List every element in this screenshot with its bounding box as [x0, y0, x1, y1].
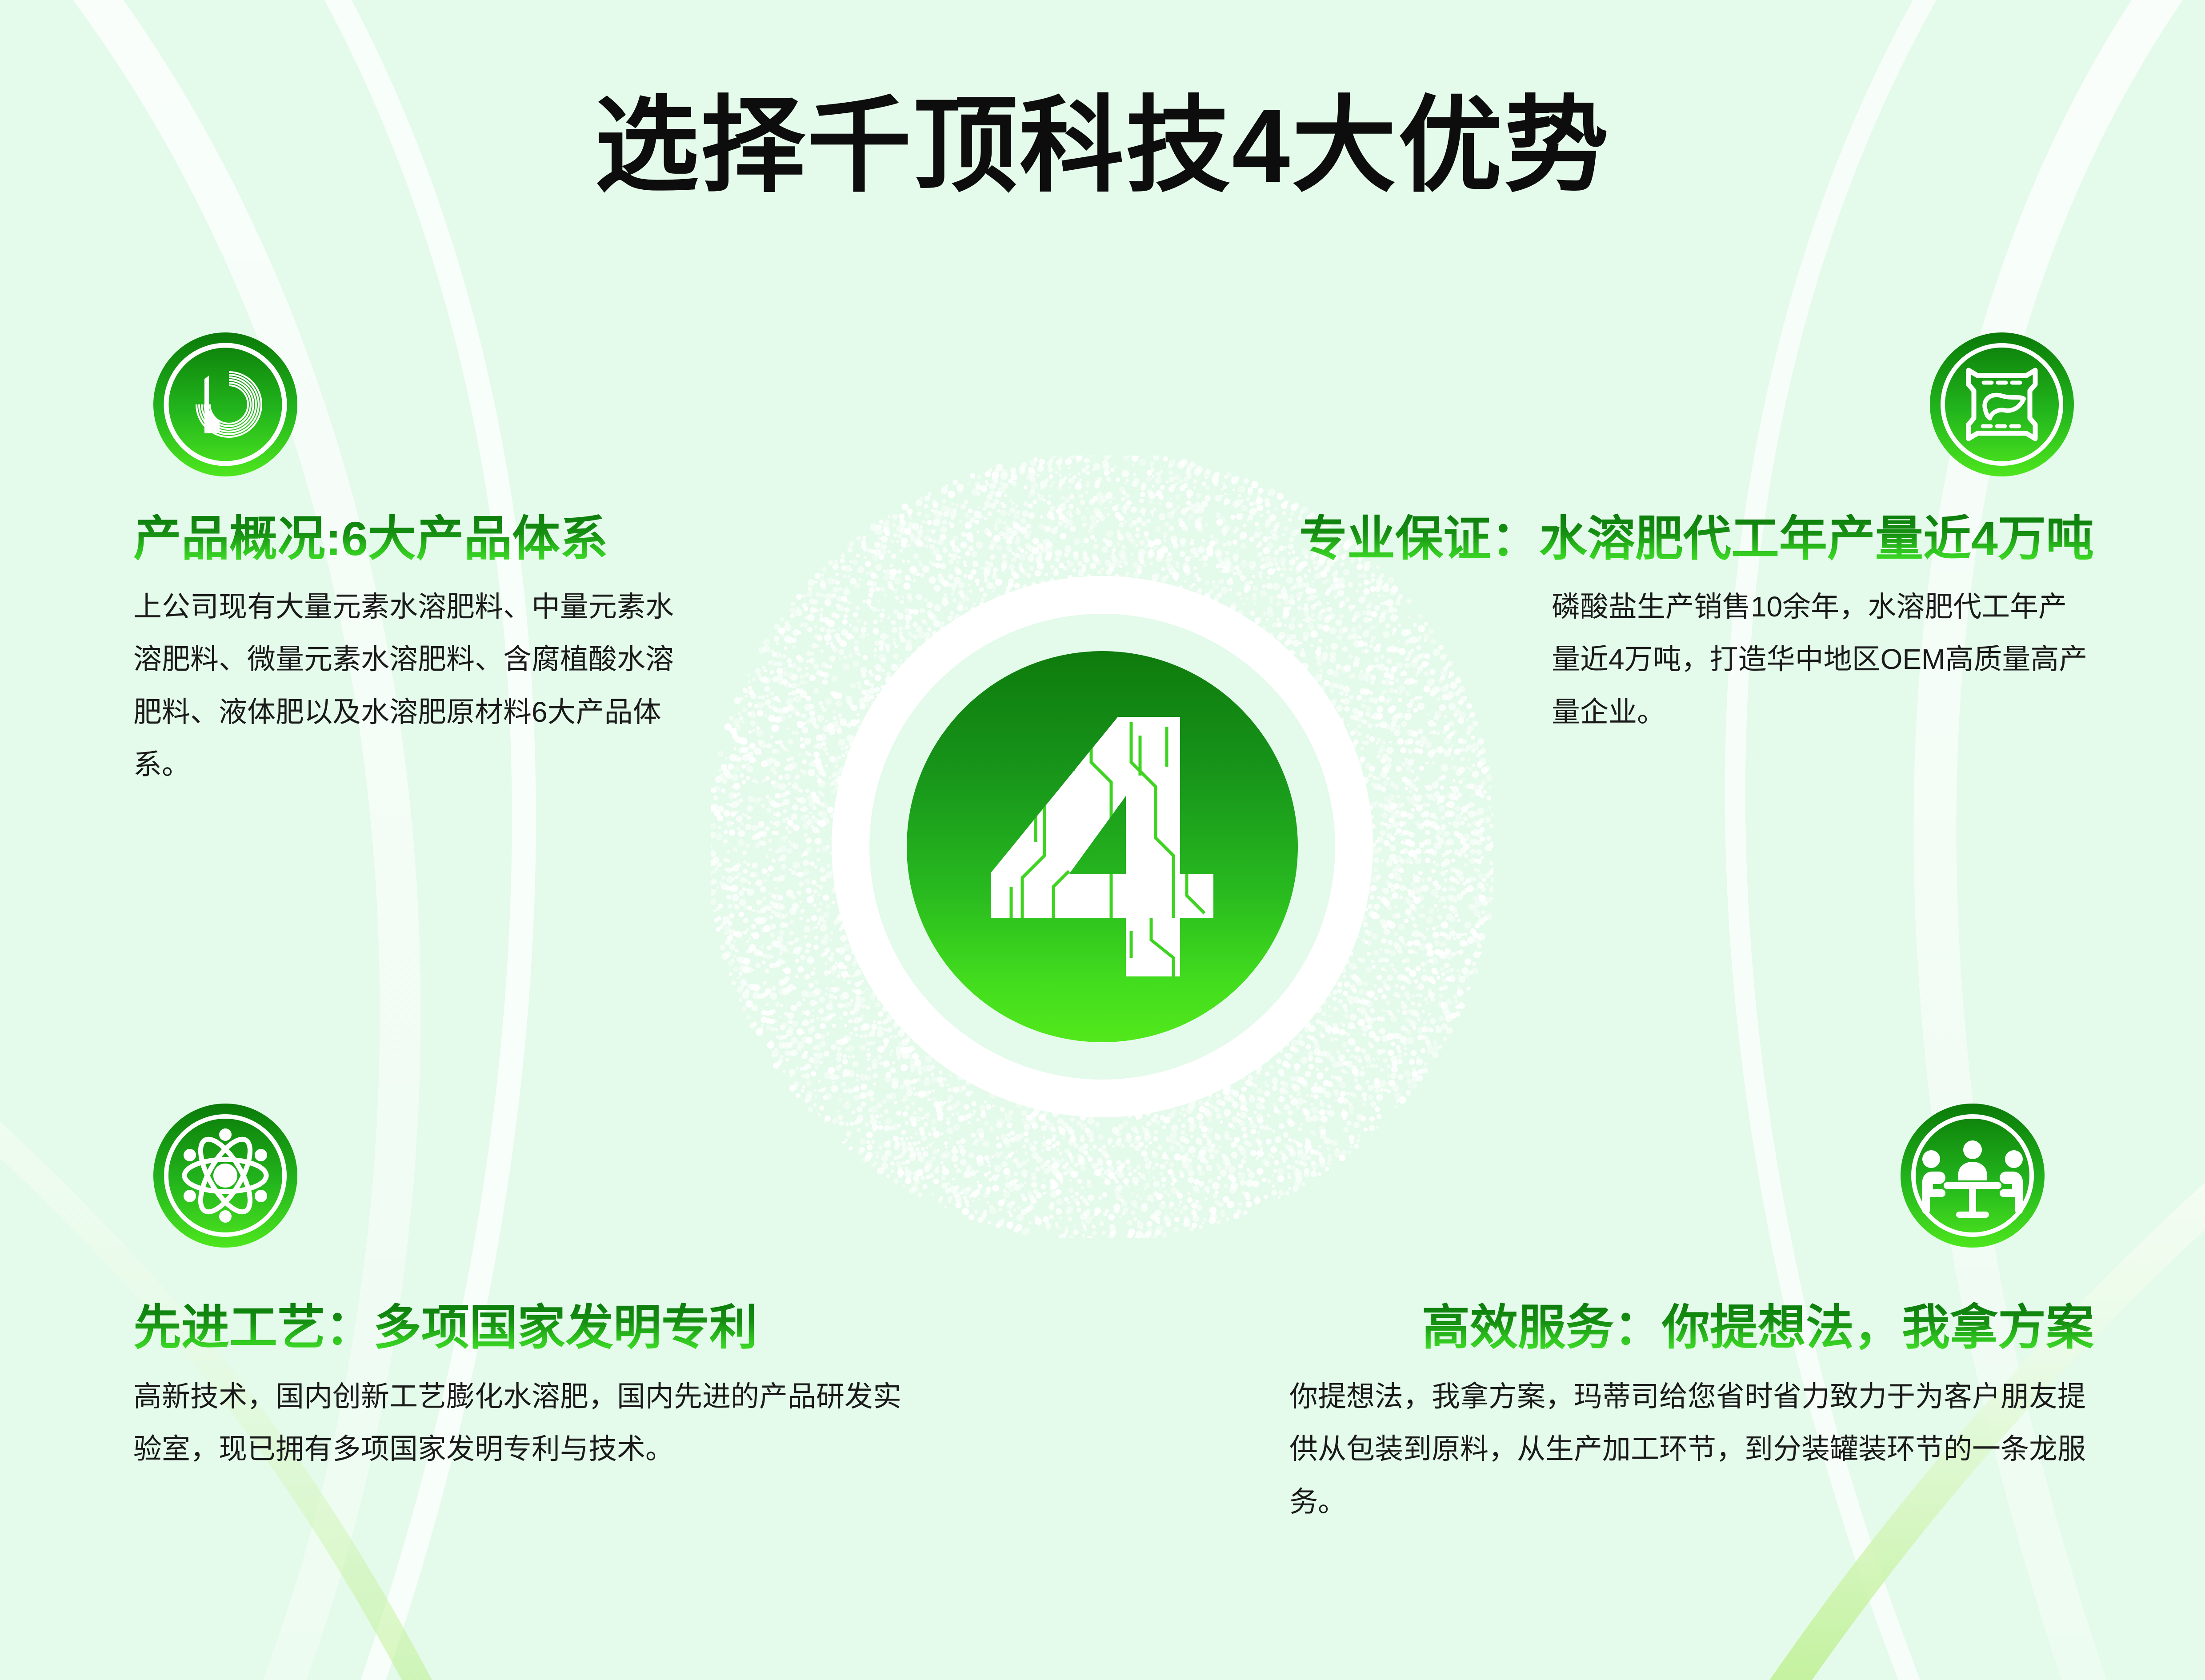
- center-number-4-icon: [978, 709, 1227, 984]
- feature-block-efficient-service: 高效服务：你提想法，我拿方案 你提想法，我拿方案，玛蒂司给您省时省力致力于为客户…: [1201, 1102, 2094, 1528]
- fertilizer-bag-icon: [1929, 331, 2075, 478]
- feature-body: 你提想法，我拿方案，玛蒂司给您省时省力致力于为客户朋友提供从包装到原料，从生产加…: [1289, 1370, 2094, 1528]
- feature-body: 磷酸盐生产销售10余年，水溶肥代工年产量近4万吨，打造华中地区OEM高质量高产量…: [1552, 580, 2094, 738]
- number-six-rings-icon: [152, 331, 299, 478]
- feature-block-professional-guarantee: 专业保证：水溶肥代工年产量近4万吨 磷酸盐生产销售10余年，水溶肥代工年产量近4…: [1205, 331, 2094, 738]
- feature-block-advanced-process: 先进工艺：多项国家发明专利 高新技术，国内创新工艺膨化水溶肥，国内先进的产品研发…: [133, 1102, 978, 1476]
- infographic-canvas: 选择千顶科技4大优势: [0, 0, 2205, 1680]
- meeting-table-people-icon: [1899, 1102, 2046, 1249]
- feature-heading: 先进工艺：多项国家发明专利: [133, 1301, 978, 1354]
- feature-heading: 产品概况:6大产品体系: [133, 512, 720, 565]
- feature-heading: 专业保证：水溶肥代工年产量近4万吨: [1205, 512, 2094, 565]
- feature-block-product-overview: 产品概况:6大产品体系 上公司现有大量元素水溶肥料、中量元素水溶肥料、微量元素水…: [133, 331, 720, 791]
- page-title: 选择千顶科技4大优势: [0, 93, 2205, 198]
- feature-body: 高新技术，国内创新工艺膨化水溶肥，国内先进的产品研发实验室，现已拥有多项国家发明…: [133, 1370, 916, 1476]
- feature-body: 上公司现有大量元素水溶肥料、中量元素水溶肥料、微量元素水溶肥料、含腐植酸水溶肥料…: [133, 580, 693, 791]
- feature-heading: 高效服务：你提想法，我拿方案: [1201, 1301, 2094, 1354]
- atom-icon: [152, 1102, 299, 1249]
